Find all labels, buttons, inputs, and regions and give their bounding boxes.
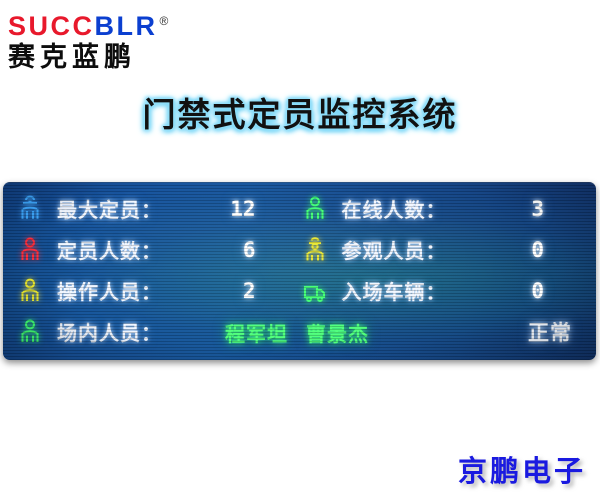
led-row-max-capacity: 最大定员： 12 [17,188,302,229]
led-value: 0 [531,279,544,303]
truck-icon [302,277,328,305]
led-label: 场内人员： [57,317,162,346]
led-display-panel: 最大定员： 12 在线人数： 3 [3,182,596,360]
brand-chinese-name: 赛克蓝鹏 [8,42,248,74]
brand-logo: SUCCBLR® 赛克蓝鹏 [8,6,248,72]
footer-brand: 京鹏电子 [458,448,586,490]
brand-wordmark-blue: BLR [95,11,158,41]
page-title: 门禁式定员监控系统 [0,88,600,136]
person-helmet-icon [17,195,43,223]
personnel-name: 程军坦 [225,318,288,347]
led-label: 最大定员： [57,194,162,223]
led-row-operator-count: 操作人员： 2 [17,270,302,311]
led-row-assigned-count: 定员人数： 6 [17,229,302,270]
led-row-visitor-count: 参观人员： 0 [302,229,587,270]
led-label: 定员人数： [57,235,162,264]
led-label: 参观人员： [342,235,447,264]
led-label: 入场车辆： [342,276,447,305]
person-icon [302,195,328,223]
led-row-vehicle-count: 入场车辆： 0 [302,270,587,311]
led-value: 6 [243,238,256,262]
personnel-name: 曹景杰 [306,318,369,347]
led-value: 2 [243,279,256,303]
led-row-online-count: 在线人数： 3 [302,188,587,229]
person-icon [17,277,43,305]
registered-trademark-icon: ® [160,6,169,36]
led-value: 12 [230,197,255,221]
person-icon [17,318,43,346]
onsite-personnel-names: 程军坦 曹景杰 [225,318,596,347]
person-hat-icon [302,236,328,264]
led-value: 3 [531,197,544,221]
led-value: 0 [531,238,544,262]
led-label: 操作人员： [57,276,162,305]
person-icon [17,236,43,264]
brand-wordmark-red: SUCC [8,11,95,41]
led-label: 在线人数： [342,194,447,223]
brand-wordmark: SUCCBLR® [8,6,248,41]
